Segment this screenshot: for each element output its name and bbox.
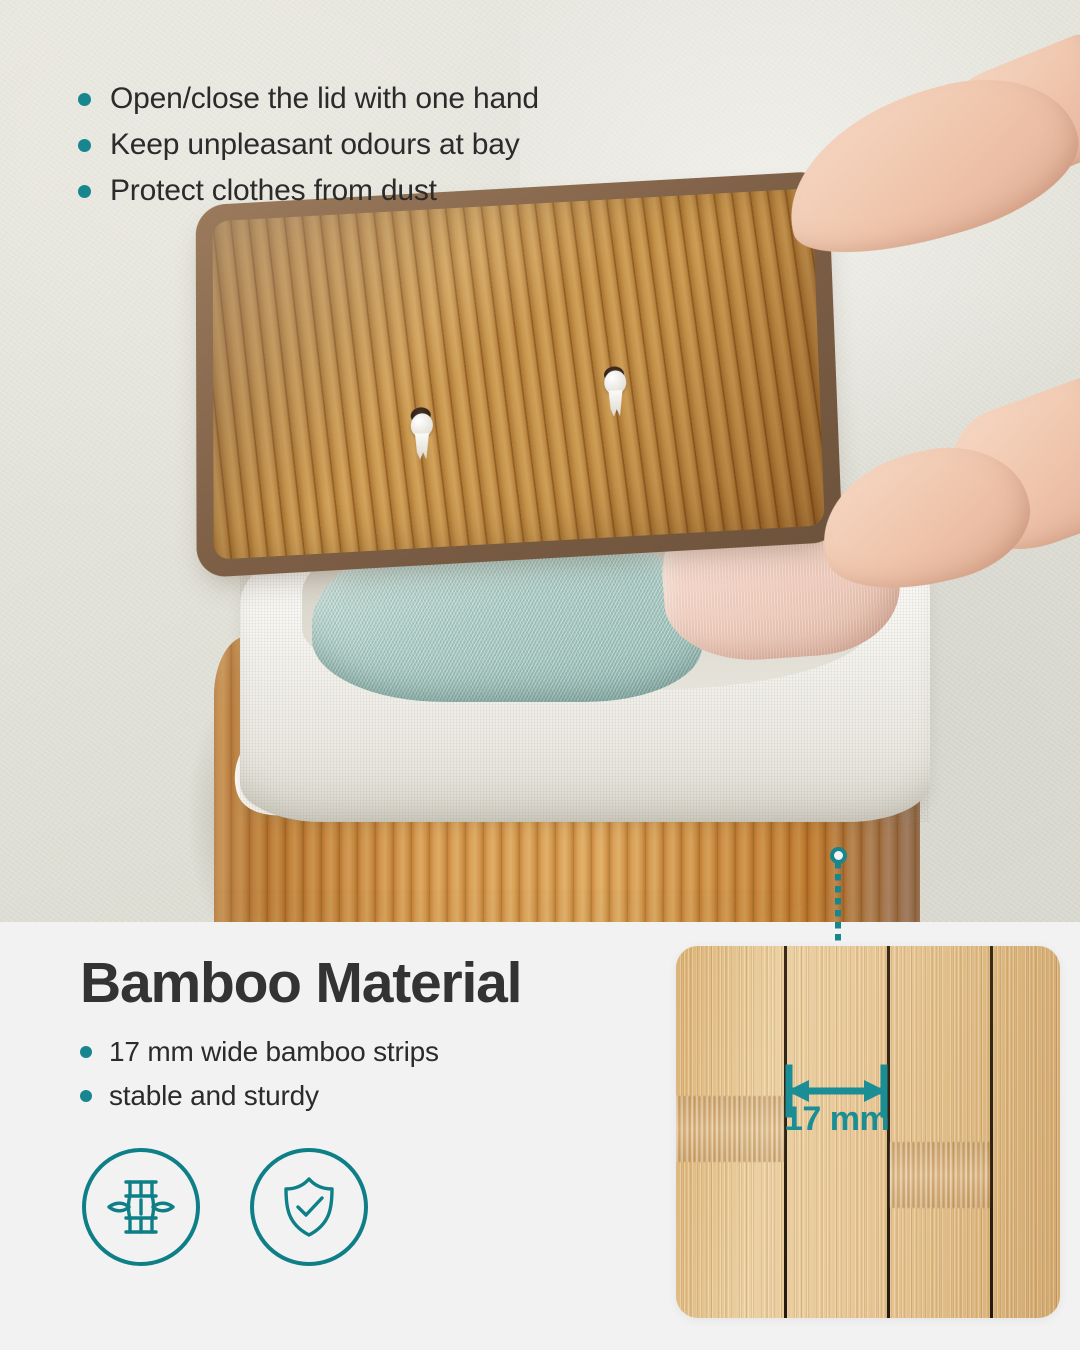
- bullet-dot-icon: [78, 185, 91, 198]
- lid-surface: [196, 171, 843, 578]
- list-item: Keep unpleasant odours at bay: [78, 122, 539, 168]
- shield-check-icon: [250, 1148, 368, 1266]
- product-infographic: Open/close the lid with one hand Keep un…: [0, 0, 1080, 1350]
- feature-icon-group: [82, 1148, 368, 1266]
- bullet-dot-icon: [80, 1090, 92, 1102]
- material-bullet-text: stable and sturdy: [109, 1080, 319, 1112]
- rope-tail: [415, 433, 429, 460]
- list-item: Protect clothes from dust: [78, 168, 539, 214]
- top-bullet-text: Keep unpleasant odours at bay: [110, 128, 520, 162]
- lid-rope-tie: [600, 370, 631, 418]
- list-item: stable and sturdy: [80, 1074, 439, 1118]
- bullet-dot-icon: [80, 1046, 92, 1058]
- lid-highlight: [213, 188, 825, 559]
- top-bullet-text: Protect clothes from dust: [110, 174, 437, 208]
- top-bullet-text: Open/close the lid with one hand: [110, 82, 539, 116]
- bamboo-slat-lid: [196, 186, 836, 558]
- product-photo: Open/close the lid with one hand Keep un…: [0, 0, 1080, 922]
- lid-rope-tie: [407, 413, 438, 461]
- bamboo-stalk-icon: [82, 1148, 200, 1266]
- list-item: 17 mm wide bamboo strips: [80, 1030, 439, 1074]
- material-bullet-text: 17 mm wide bamboo strips: [109, 1036, 439, 1068]
- dotted-connector-line: [835, 862, 841, 950]
- bullet-dot-icon: [78, 139, 91, 152]
- dimension-label: 17 mm: [784, 1100, 889, 1139]
- detail-marker-icon: [830, 847, 847, 864]
- bullet-dot-icon: [78, 93, 91, 106]
- rope-tail: [608, 390, 623, 417]
- top-feature-list: Open/close the lid with one hand Keep un…: [78, 76, 539, 214]
- material-feature-list: 17 mm wide bamboo strips stable and stur…: [80, 1030, 439, 1118]
- list-item: Open/close the lid with one hand: [78, 76, 539, 122]
- page-title: Bamboo Material: [80, 950, 521, 1016]
